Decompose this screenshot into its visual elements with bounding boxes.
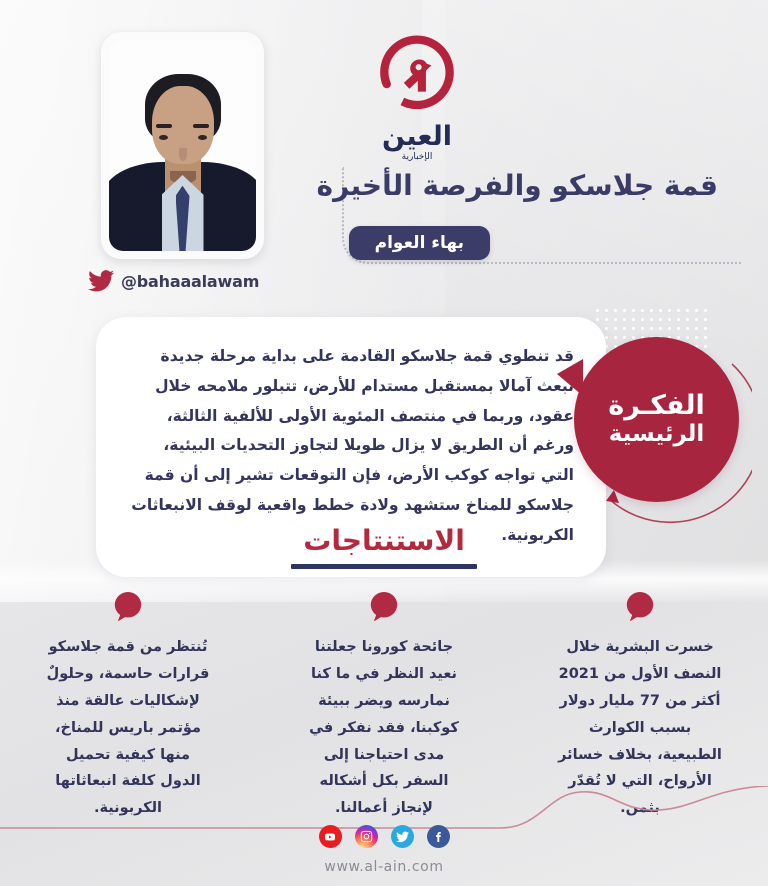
- logo-subtitle: الإخبارية: [351, 152, 483, 162]
- social-links[interactable]: [0, 825, 768, 848]
- youtube-icon[interactable]: [319, 825, 342, 848]
- conclusions-columns: خسرت البشرية خلال النصف الأول من 2021 أك…: [0, 592, 768, 822]
- conclusions-title: الاستنتاجات: [303, 524, 465, 564]
- twitter-icon[interactable]: [391, 825, 414, 848]
- logo-wordmark: العين: [351, 123, 483, 150]
- ain-circle-logo-icon: [371, 30, 463, 122]
- speech-bubble-icon: [113, 592, 143, 622]
- speech-bubble-icon: [625, 592, 655, 622]
- author-photo: [109, 40, 256, 251]
- main-idea-label-line2: الرئيسية: [609, 421, 705, 449]
- instagram-icon[interactable]: [355, 825, 378, 848]
- conclusions-heading-wrap: الاستنتاجات: [0, 524, 768, 569]
- website-url[interactable]: www.al-ain.com: [0, 859, 768, 875]
- main-idea-text: قد تنطوي قمة جلاسكو القادمة على بداية مر…: [126, 342, 574, 550]
- author-photo-frame: [101, 32, 264, 259]
- main-idea-badge: الفكـرة الرئيسية: [574, 337, 739, 502]
- conclusion-text-2: جائحة كورونا جعلتنا نعيد النظر في ما كنا…: [300, 634, 468, 822]
- twitter-bird-icon: [88, 270, 114, 292]
- conclusion-item-1: خسرت البشرية خلال النصف الأول من 2021 أك…: [512, 592, 768, 822]
- twitter-handle-row[interactable]: @bahaaalawam: [88, 270, 259, 292]
- conclusions-underline: [291, 564, 477, 569]
- brand-logo: العين الإخبارية: [351, 30, 483, 162]
- infographic-poster: @bahaaalawam العين الإخبارية قمة جلاسكو …: [0, 0, 768, 886]
- conclusion-item-2: جائحة كورونا جعلتنا نعيد النظر في ما كنا…: [256, 592, 512, 822]
- author-name-badge: بهاء العوام: [349, 226, 490, 260]
- conclusion-text-1: خسرت البشرية خلال النصف الأول من 2021 أك…: [556, 634, 724, 822]
- page-title: قمة جلاسكو والفرصة الأخيرة: [298, 168, 718, 204]
- main-idea-label-line1: الفكـرة: [608, 391, 705, 421]
- conclusion-text-3: تُنتظر من قمة جلاسكو قرارات حاسمة، وحلول…: [44, 634, 212, 822]
- facebook-icon[interactable]: [427, 825, 450, 848]
- conclusion-item-3: تُنتظر من قمة جلاسكو قرارات حاسمة، وحلول…: [0, 592, 256, 822]
- speech-bubble-icon: [369, 592, 399, 622]
- twitter-handle-text: @bahaaalawam: [121, 272, 259, 291]
